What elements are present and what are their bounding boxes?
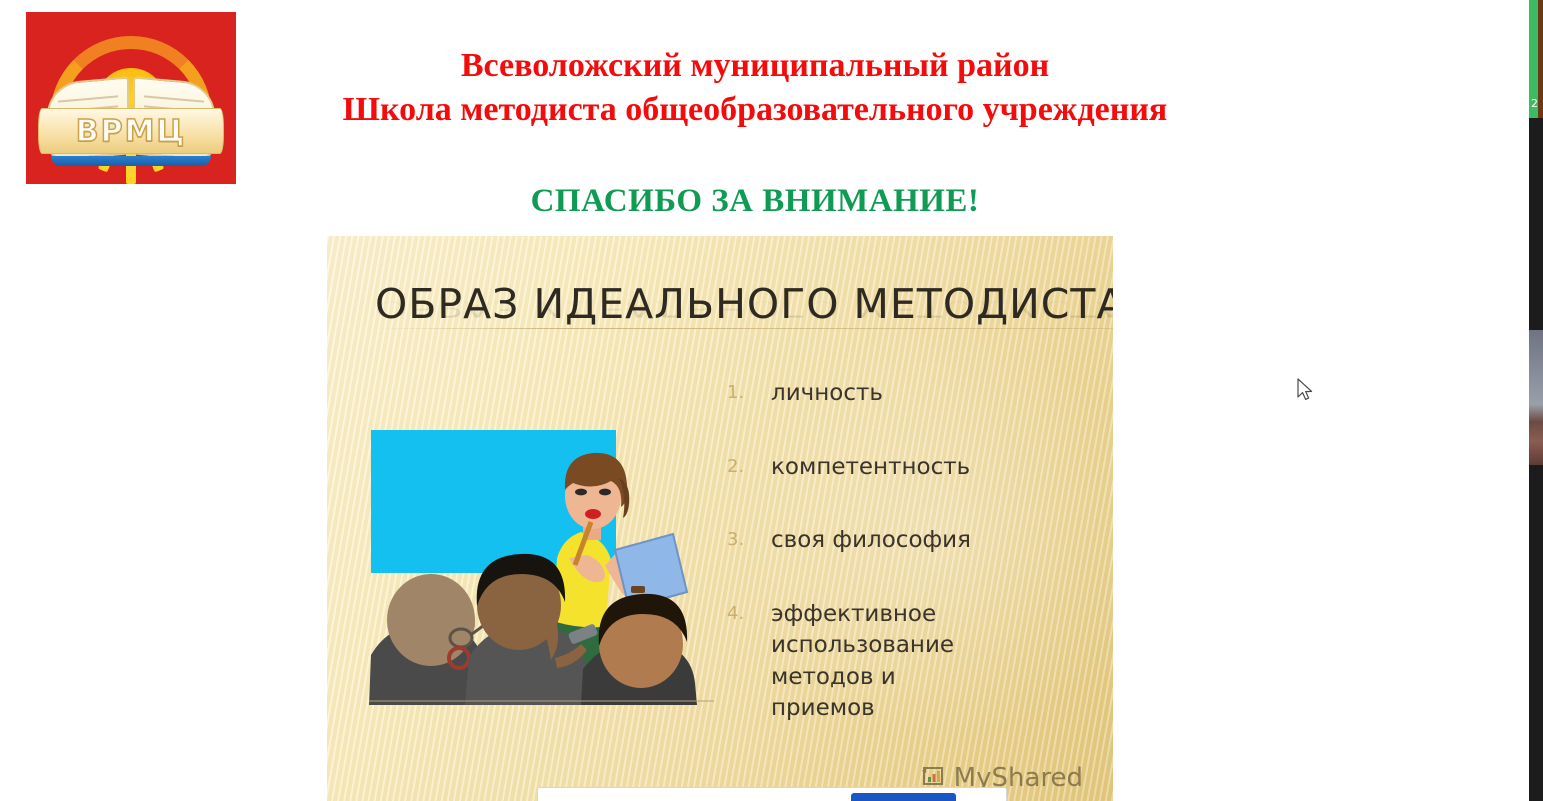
logo-banner-text: ВРМЦ — [76, 114, 187, 149]
arrow-cursor — [1297, 378, 1315, 402]
right-panel-badge: 2 — [1530, 96, 1539, 112]
thank-you-heading: СПАСИБО ЗА ВНИМАНИЕ! — [250, 183, 1260, 220]
ideal-methodist-list: 1. личность 2. компетентность 3. своя фи… — [727, 378, 1087, 725]
list-item: 4. эффективное использование методов и п… — [727, 599, 1087, 725]
header-line-1: Всеволожский муниципальный район — [250, 44, 1260, 88]
vrmts-logo: ВРМЦ — [26, 12, 236, 184]
popup-primary-button[interactable] — [851, 793, 956, 801]
list-item: 2. компетентность — [727, 452, 1087, 484]
list-item-label: личность — [771, 378, 883, 410]
list-item-label: эффективное использование методов и прие… — [771, 599, 1001, 725]
list-item-label: компетентность — [771, 452, 970, 484]
embedded-slide[interactable]: ОБРАЗ ИДЕАЛЬНОГО МЕТОДИСТА ОБРАЗ ИДЕАЛЬН… — [327, 236, 1113, 801]
right-thumbnail-sliver[interactable] — [1529, 330, 1543, 465]
slide-title: ОБРАЗ ИДЕАЛЬНОГО МЕТОДИСТА — [375, 280, 1113, 328]
list-item-number: 3. — [727, 525, 771, 550]
header-line-2: Школа методиста общеобразовательного учр… — [250, 88, 1260, 132]
list-item: 3. своя философия — [727, 525, 1087, 557]
bottom-popup-panel[interactable] — [537, 787, 1007, 801]
screen-root: ВРМЦ Всеволожский муниципальный район Шк… — [0, 0, 1543, 801]
list-item-number: 1. — [727, 378, 771, 403]
right-edge-panel: 2 — [1529, 0, 1543, 801]
logo-banner: ВРМЦ — [38, 108, 224, 154]
list-item: 1. личность — [727, 378, 1087, 410]
classroom-illustration — [369, 430, 714, 705]
list-item-number: 2. — [727, 452, 771, 477]
logo-book-base — [51, 156, 211, 166]
people-illustration-svg — [369, 430, 714, 705]
list-item-number: 4. — [727, 599, 771, 624]
slide-title-rule — [375, 328, 1113, 329]
list-item-label: своя философия — [771, 525, 971, 557]
page-header: Всеволожский муниципальный район Школа м… — [250, 44, 1260, 131]
